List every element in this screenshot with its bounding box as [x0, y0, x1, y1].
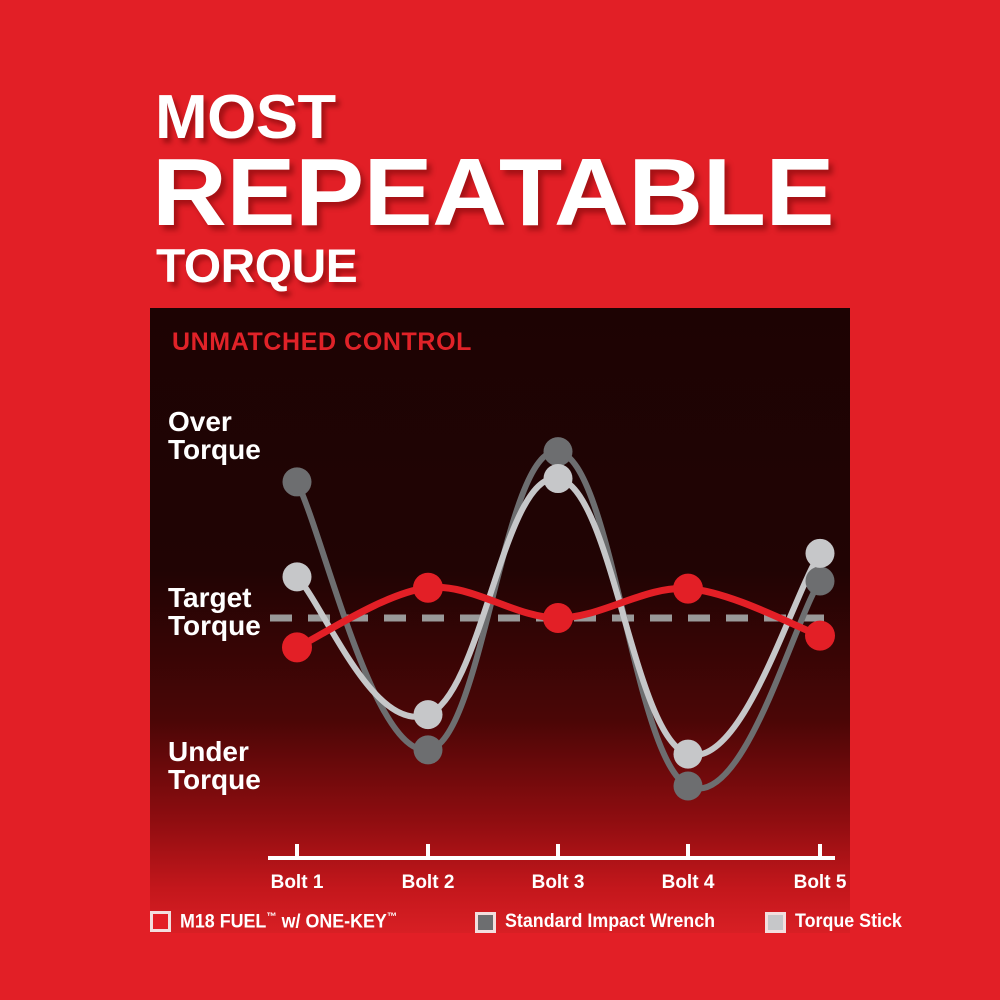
x-axis-label-bolt-1: Bolt 1	[271, 872, 324, 894]
legend-swatch-torque-stick	[765, 912, 786, 933]
data-point	[413, 573, 443, 603]
legend-item-torque-stick[interactable]: Torque Stick	[765, 911, 909, 933]
headline-line-2: REPEATABLE	[152, 138, 834, 248]
chart-legend: M18 FUEL™ w/ ONE-KEY™Standard Impact Wre…	[150, 903, 860, 941]
data-point	[544, 464, 573, 493]
headline-block: MOST REPEATABLE TORQUE	[0, 0, 1000, 300]
chart-plot-area	[150, 308, 850, 933]
legend-label-m18-fuel-one-key: M18 FUEL™ w/ ONE-KEY™	[180, 911, 397, 933]
legend-label-torque-stick: Torque Stick	[795, 911, 902, 933]
x-axis-label-bolt-5: Bolt 5	[794, 872, 847, 894]
data-point	[282, 632, 312, 662]
data-point	[543, 603, 573, 633]
data-point	[674, 740, 703, 769]
data-point	[806, 567, 835, 596]
legend-label-standard-impact-wrench: Standard Impact Wrench	[505, 911, 715, 933]
legend-swatch-m18-fuel-one-key	[150, 911, 171, 932]
x-axis-label-bolt-2: Bolt 2	[402, 872, 455, 894]
legend-swatch-standard-impact-wrench	[475, 912, 496, 933]
data-point	[673, 574, 703, 604]
data-point	[283, 467, 312, 496]
legend-item-standard-impact-wrench[interactable]: Standard Impact Wrench	[475, 911, 728, 933]
data-point	[414, 735, 443, 764]
headline-line-3: TORQUE	[156, 238, 357, 293]
chart-panel: UNMATCHED CONTROL Over Torque Target Tor…	[150, 308, 850, 933]
legend-item-m18-fuel-one-key[interactable]: M18 FUEL™ w/ ONE-KEY™	[150, 911, 411, 933]
data-point	[805, 621, 835, 651]
data-point	[414, 700, 443, 729]
data-point	[283, 562, 312, 591]
x-axis-label-bolt-3: Bolt 3	[532, 872, 585, 894]
x-axis-label-bolt-4: Bolt 4	[662, 872, 715, 894]
data-point	[674, 772, 703, 801]
data-point	[806, 539, 835, 568]
data-point	[544, 437, 573, 466]
